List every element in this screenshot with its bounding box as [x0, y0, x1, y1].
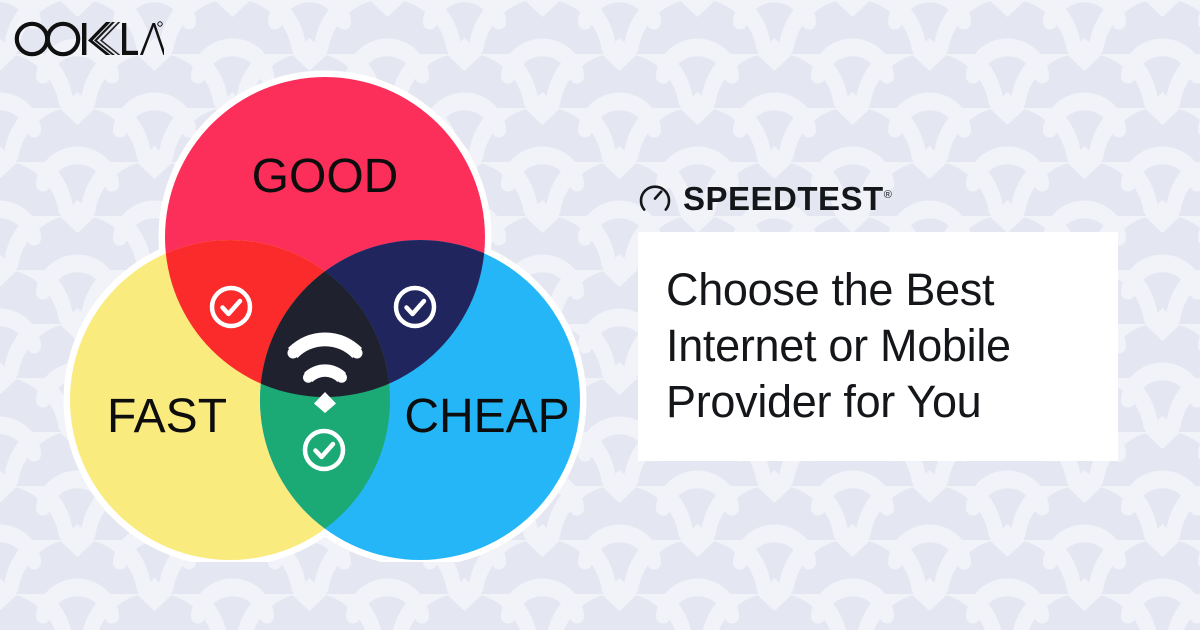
infographic-canvas: GOOD FAST CHEAP: [0, 0, 1200, 630]
speedtest-logo: SPEEDTEST®: [638, 176, 1118, 220]
speedtest-registered-mark: ®: [884, 189, 892, 201]
venn-label-fast: FAST: [107, 390, 227, 443]
page-title: Choose the Best Internet or Mobile Provi…: [666, 262, 1090, 429]
speedtest-wordmark-text: SPEEDTEST: [683, 180, 884, 217]
headline-card: Choose the Best Internet or Mobile Provi…: [638, 232, 1118, 461]
venn-label-cheap: CHEAP: [404, 390, 569, 443]
venn-label-good: GOOD: [252, 150, 399, 203]
ookla-letter-k: [82, 22, 120, 55]
ookla-registered-mark: [158, 22, 162, 26]
right-content-column: SPEEDTEST® Choose the Best Internet or M…: [638, 176, 1118, 461]
ookla-letter-l: [122, 23, 138, 55]
speedtest-wordmark: SPEEDTEST®: [683, 182, 892, 215]
ookla-letter-o2: [48, 24, 78, 54]
ookla-letter-o1: [17, 24, 47, 54]
ookla-logo: [14, 18, 164, 60]
speedometer-icon: [638, 181, 672, 215]
venn-diagram: GOOD FAST CHEAP: [45, 62, 605, 562]
ookla-letter-a: [140, 23, 164, 55]
